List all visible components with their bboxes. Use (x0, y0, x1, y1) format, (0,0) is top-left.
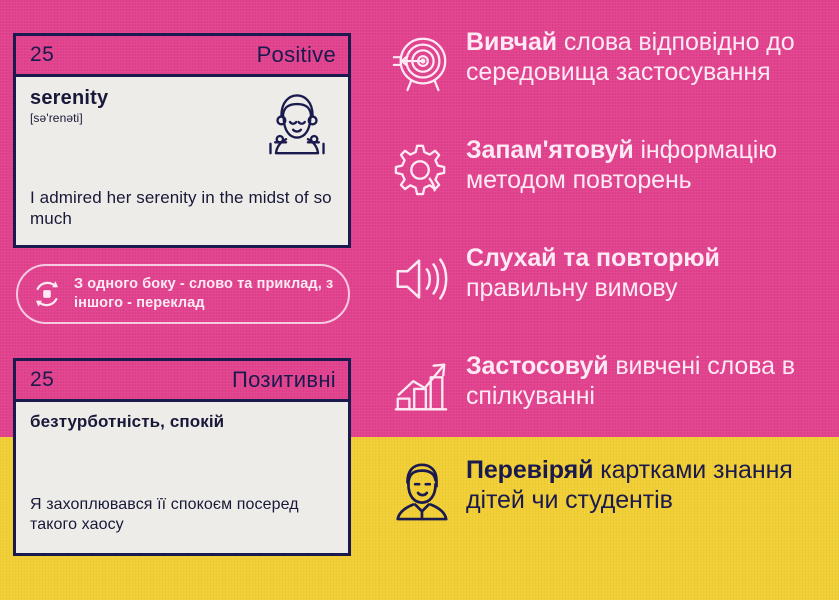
flashcard-front-header: 25 Positive (16, 36, 348, 77)
flip-info-text: З одного боку - слово та приклад, з іншо… (74, 275, 334, 313)
feature-item-memorize-by-repetition: Запам'ятовуй інформацію методом повторен… (382, 132, 839, 240)
flashcard-front-body: serenity [sə'renəti] (16, 77, 348, 245)
feature-text: Перевіряй картками знання дітей чи студе… (466, 455, 839, 515)
feature-text: Слухай та повторюй правильну вимову (466, 240, 839, 303)
feature-item-listen-and-repeat: Слухай та повторюй правильну вимову (382, 240, 839, 348)
feature-text-bold: Вивчай (466, 28, 557, 56)
flashcard-back-header: 25 Позитивні (16, 361, 348, 402)
meditating-person-icon (258, 83, 336, 161)
flashcard-back-body: безтурботність, спокій Я захоплювався її… (16, 402, 348, 553)
flashcard-example-translation: Я захоплювався її спокоєм посеред такого… (30, 495, 338, 535)
feature-text: Запам'ятовуй інформацію методом повторен… (466, 132, 839, 195)
flashcard-front[interactable]: 25 Positive serenity [sə'renəti] (13, 33, 351, 248)
speaker-sound-icon (390, 248, 452, 310)
feature-item-test-students: Перевіряй картками знання дітей чи студе… (382, 455, 839, 521)
feature-text-bold: Запам'ятовуй (466, 136, 634, 164)
promo-poster: 25 Positive serenity [sə'renəti] (0, 0, 839, 600)
feature-list: Вивчай слова відповідно до середовища за… (382, 24, 839, 456)
gear-icon (390, 140, 452, 202)
flashcard-front-category: Positive (257, 42, 336, 68)
feature-text-bold: Застосовуй (466, 352, 609, 380)
flashcard-back-category: Позитивні (232, 367, 336, 393)
flashcard-back[interactable]: 25 Позитивні безтурботність, спокій Я за… (13, 358, 351, 556)
feature-item-learn-in-context: Вивчай слова відповідно до середовища за… (382, 24, 839, 132)
growth-chart-icon (390, 356, 452, 418)
flashcard-front-number: 25 (30, 43, 54, 67)
flashcard-back-number: 25 (30, 368, 54, 392)
feature-text-bold: Перевіряй (466, 456, 593, 484)
flip-info-badge: З одного боку - слово та приклад, з іншо… (16, 264, 350, 324)
feature-text: Застосовуй вивчені слова в спілкуванні (466, 348, 839, 411)
flashcard-translation: безтурботність, спокій (30, 412, 334, 432)
feature-item-use-in-conversation: Застосовуй вивчені слова в спілкуванні (382, 348, 839, 456)
flip-refresh-icon (30, 277, 64, 311)
flashcard-example: I admired her serenity in the midst of s… (30, 187, 338, 230)
feature-text-rest: правильну вимову (466, 274, 677, 302)
teacher-person-icon (390, 459, 452, 521)
target-bullseye-icon (390, 32, 452, 94)
feature-text-bold: Слухай та повторюй (466, 244, 720, 272)
feature-text: Вивчай слова відповідно до середовища за… (466, 24, 839, 87)
